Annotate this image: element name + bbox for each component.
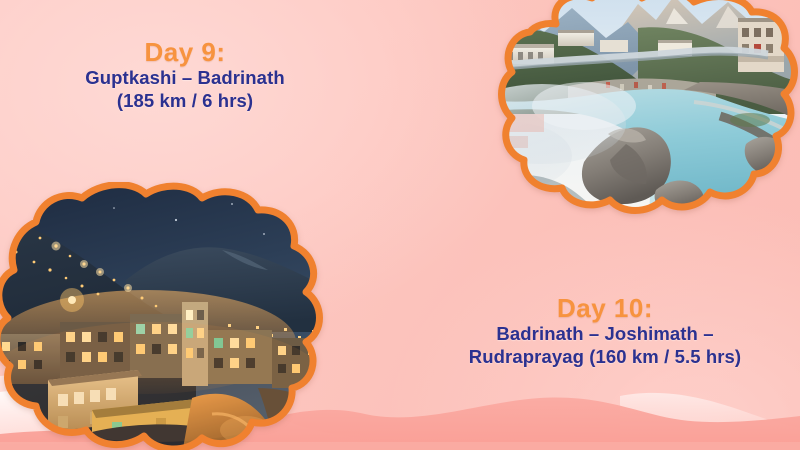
- photo-river-confluence[interactable]: [488, 0, 800, 226]
- photo-night-hilltown[interactable]: [0, 182, 332, 450]
- day9-heading: Day 9:: [40, 38, 330, 67]
- photo-river-confluence-artwork: [488, 0, 800, 226]
- day10-heading: Day 10:: [425, 294, 785, 323]
- caption-day10: Day 10: Badrinath – Joshimath – Rudrapra…: [425, 294, 785, 368]
- day10-route-line2: Rudraprayag (160 km / 5.5 hrs): [425, 346, 785, 369]
- slide-canvas: Day 9: Guptkashi – Badrinath (185 km / 6…: [0, 0, 800, 450]
- day9-route-line1: Guptkashi – Badrinath: [40, 67, 330, 90]
- day10-route-line1: Badrinath – Joshimath –: [425, 323, 785, 346]
- cliff-house: [738, 18, 784, 72]
- day9-route-line2: (185 km / 6 hrs): [40, 90, 330, 113]
- caption-day9: Day 9: Guptkashi – Badrinath (185 km / 6…: [40, 38, 330, 112]
